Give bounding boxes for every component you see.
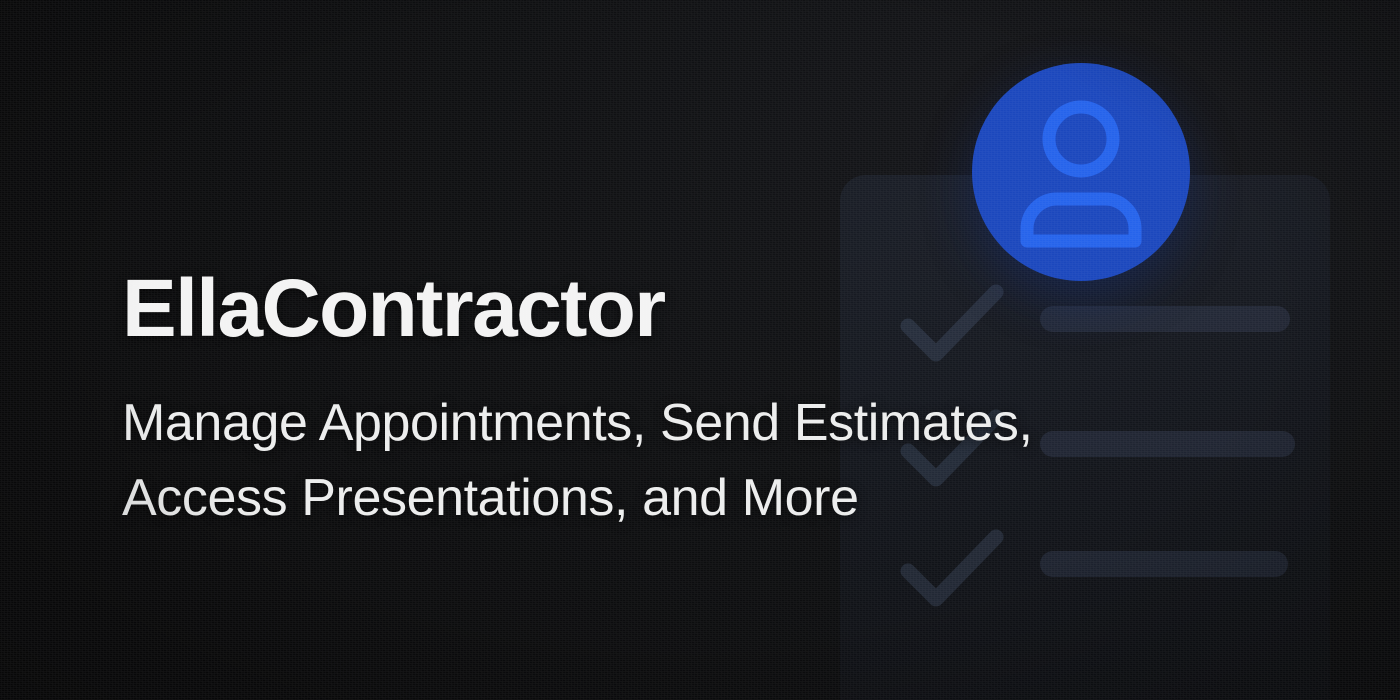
checklist-row (840, 525, 1330, 615)
checklist-line-placeholder (1040, 551, 1288, 577)
hero-banner: EllaContractor Manage Appointments, Send… (0, 0, 1400, 700)
avatar (972, 63, 1190, 281)
hero-copy: EllaContractor Manage Appointments, Send… (122, 268, 1182, 537)
hero-tagline-line-2: Access Presentations, and More (122, 461, 1182, 536)
user-avatar-icon (972, 63, 1190, 281)
check-icon (898, 525, 1006, 611)
hero-tagline: Manage Appointments, Send Estimates, Acc… (122, 386, 1182, 537)
page-title: EllaContractor (122, 268, 1182, 350)
hero-tagline-line-1: Manage Appointments, Send Estimates, (122, 386, 1182, 461)
